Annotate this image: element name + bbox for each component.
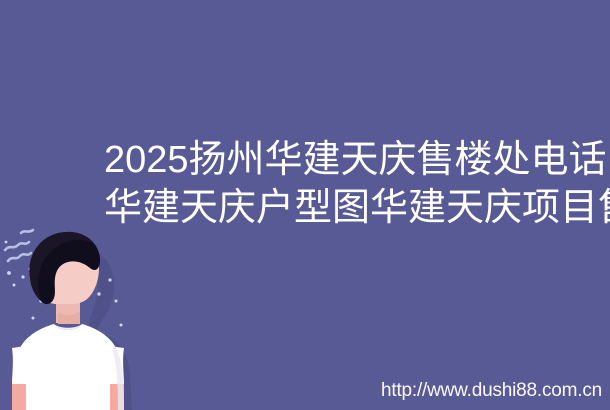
tshirt-shading [112, 348, 124, 410]
page-title-line-2: 华建天庆户型图华建天庆项目售楼 [104, 184, 610, 232]
neck [56, 294, 80, 323]
arm-left [12, 380, 26, 410]
page-title: 2025扬州华建天庆售楼处电话 华建天庆户型图华建天庆项目售楼 [104, 136, 610, 232]
ear [34, 275, 43, 289]
hair-highlight [29, 232, 94, 302]
sleeve-left [12, 346, 28, 384]
neck-shadow [58, 312, 80, 324]
squiggle-left-3 [21, 230, 33, 233]
illustration-background [0, 228, 150, 410]
squiggle-left-2 [8, 253, 31, 261]
face [36, 235, 99, 304]
figure-shadow [88, 252, 132, 410]
hair [29, 232, 100, 304]
tshirt [12, 324, 124, 410]
person-looking-up-illustration [0, 228, 150, 410]
page-title-line-1: 2025扬州华建天庆售楼处电话 [104, 136, 610, 184]
watermark-url: http://www.dushi88.com.cn [381, 380, 602, 402]
squiggle-left-1 [5, 242, 29, 250]
sparkle-dots [5, 241, 123, 327]
squiggle-decorations [5, 230, 33, 261]
arm-right [110, 380, 124, 410]
tshirt-collar [54, 324, 82, 330]
image-canvas: 2025扬州华建天庆售楼处电话 华建天庆户型图华建天庆项目售楼 http://w… [0, 0, 610, 410]
sleeve-right [108, 346, 124, 384]
